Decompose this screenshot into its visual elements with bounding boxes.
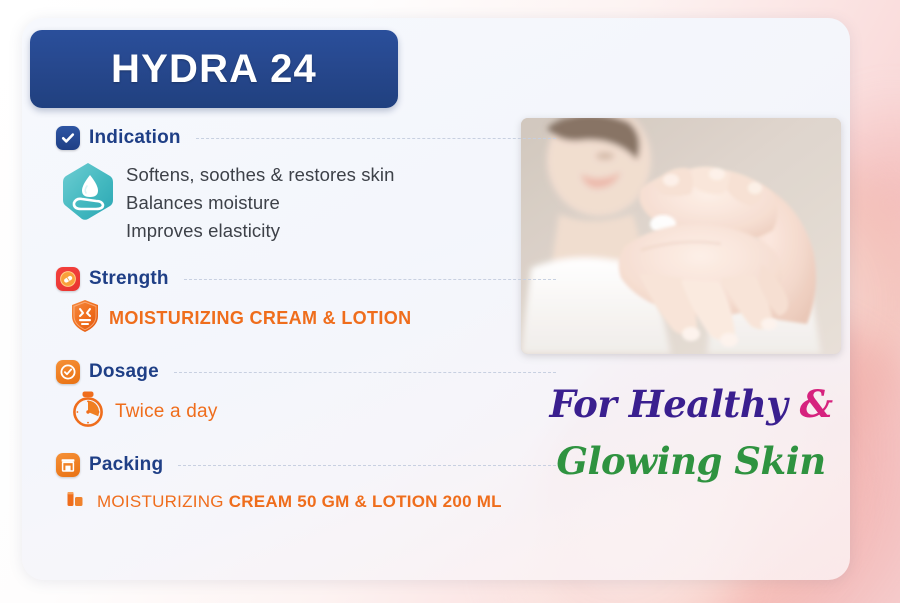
water-drop-hand-hexagon-icon [60,161,116,226]
package-box-badge-icon [56,453,80,477]
strength-value-row: MOISTURIZING CREAM & LOTION [56,299,556,338]
indication-line: Softens, soothes & restores skin [126,161,395,189]
pill-capsule-badge-icon [56,267,80,291]
indication-body: Softens, soothes & restores skin Balance… [56,159,556,245]
section-strength: Strength [56,267,556,338]
details-column: Indication [56,126,556,516]
check-circle-badge-icon [56,360,80,384]
tagline-ampersand: & [787,382,832,426]
product-title-banner: HYDRA 24 [30,30,398,108]
shield-icon [70,299,100,338]
indication-divider [196,138,556,139]
checkbox-checked-icon [56,126,80,150]
tagline-line-1: For Healthy & [521,386,850,423]
packing-value: MOISTURIZING CREAM 50 GM & LOTION 200 ML [97,492,502,512]
strength-divider [184,279,556,280]
dosage-label: Dosage [89,361,159,383]
packing-label: Packing [89,454,163,476]
stopwatch-icon [70,390,106,433]
advertisement-card-page: HYDRA 24 [0,0,900,603]
cream-tube-icon [64,487,88,516]
section-packing: Packing MOISTURIZING CREAM 50 GM & LOTIO… [56,453,556,516]
product-title: HYDRA 24 [111,47,317,92]
strength-value: MOISTURIZING CREAM & LOTION [109,308,411,329]
indication-text-lines: Softens, soothes & restores skin Balance… [126,159,395,245]
tagline-line-2-main: Glowing Skin [556,439,825,483]
packing-header: Packing [56,453,556,477]
packing-value-bold: CREAM 50 GM & LOTION 200 ML [229,492,502,511]
indication-line: Improves elasticity [126,217,395,245]
section-indication: Indication [56,126,556,245]
dosage-value: Twice a day [115,401,218,423]
strength-label: Strength [89,268,169,290]
packing-value-row: MOISTURIZING CREAM 50 GM & LOTION 200 ML [56,487,556,516]
tagline: For Healthy & Glowing Skin [521,386,850,480]
indication-label: Indication [89,127,181,149]
strength-header: Strength [56,267,556,291]
tagline-line-2: Glowing Skin [521,443,850,480]
indication-line: Balances moisture [126,189,395,217]
packing-value-light: MOISTURIZING [97,492,229,511]
product-photo [521,118,841,354]
dosage-value-row: Twice a day [56,390,556,433]
dosage-header: Dosage [56,360,556,384]
indication-header: Indication [56,126,556,150]
dosage-divider [174,372,556,373]
packing-divider [178,465,556,466]
woman-applying-hand-cream-photo [521,118,841,354]
tagline-line-1-main: For Healthy [549,382,787,426]
product-card: HYDRA 24 [22,18,850,580]
section-dosage: Dosage [56,360,556,433]
